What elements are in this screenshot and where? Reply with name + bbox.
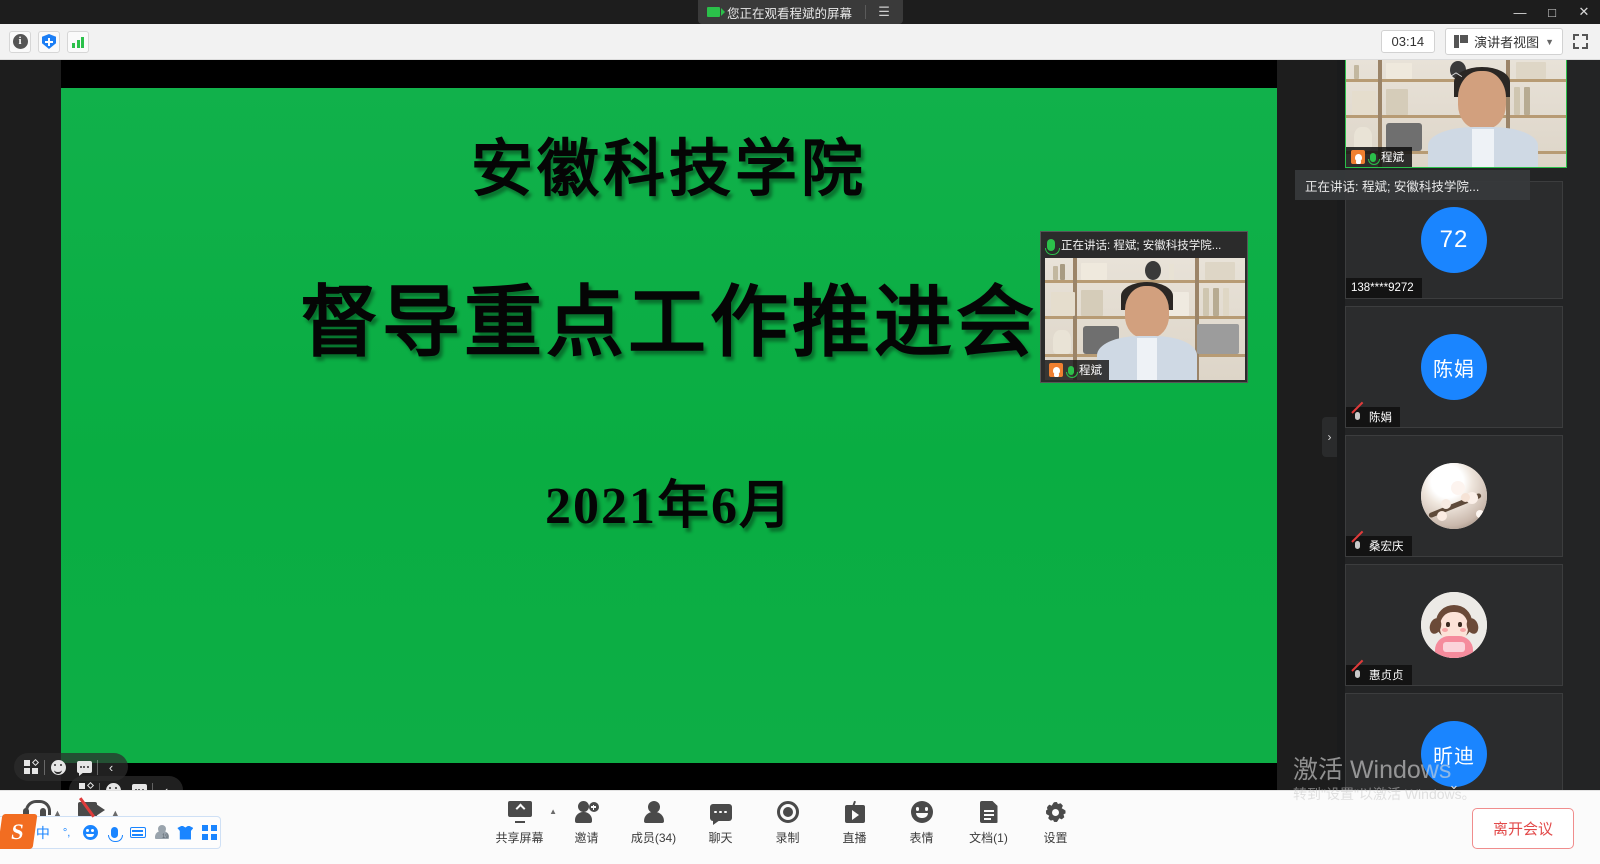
voice-input-icon[interactable] [103,820,125,845]
share-screen-button[interactable]: 共享屏幕 ▲ [486,799,553,846]
participant-tile-photo[interactable]: 惠贞贞 [1345,564,1563,686]
live-icon [845,801,865,823]
top-toolbar: i 03:14 演讲者视图 ▼ [0,24,1600,60]
soft-keyboard-icon[interactable] [127,820,149,845]
emoji-label: 表情 [909,829,933,846]
emoji-icon[interactable] [45,754,71,780]
members-button[interactable]: 成员(34) [620,799,687,846]
mic-active-icon [1047,239,1055,251]
meeting-actions: 共享屏幕 ▲ 邀请 成员(34) 聊天 录制 直播 [486,799,1089,846]
chat-icon [710,804,732,821]
floating-speaker-video[interactable]: 正在讲话: 程斌; 安徽科技学院... [1040,231,1248,383]
close-button[interactable]: ✕ [1568,0,1600,24]
host-badge-icon [1351,150,1365,164]
banner-divider [865,5,866,19]
mic-muted-icon [1351,540,1364,553]
participant-name-label: 程斌 [1346,147,1412,167]
pip-speaking-header: 正在讲话: 程斌; 安徽科技学院... [1041,232,1247,258]
sidebar-collapse-handle[interactable]: › [1322,417,1337,457]
participant-tile-photo[interactable]: 桑宏庆 [1345,435,1563,557]
settings-gear-icon [1045,801,1067,823]
mic-muted-icon [1351,669,1364,682]
info-icon[interactable]: i [9,31,31,53]
window-controls: — □ ✕ [1504,0,1600,24]
maximize-button[interactable]: □ [1536,0,1568,24]
view-mode-label: 演讲者视图 [1474,32,1539,51]
leave-meeting-button[interactable]: 离开会议 [1472,808,1574,849]
meeting-timer: 03:14 [1381,30,1436,53]
hamburger-icon[interactable]: ☰ [873,0,895,24]
participant-name: 程斌 [1381,149,1404,165]
participant-tile-video[interactable]: ︿ 程斌 [1345,60,1567,168]
avatar: 陈娟 [1421,334,1487,400]
presentation-slide: 安徽科技学院 督导重点工作推进会 2021年6月 [61,88,1277,763]
toolbar-left-group: i [0,31,89,53]
shared-screen-stage: 安徽科技学院 督导重点工作推进会 2021年6月 ‹ ‹ [0,60,1337,790]
toolbox-icon[interactable] [198,820,220,845]
screen-share-banner[interactable]: 您正在观看程斌的屏幕 ☰ [698,0,903,24]
participant-name-label: 桑宏庆 [1346,536,1412,556]
bottom-toolbar: ▲ ▲ 共享屏幕 ▲ 邀请 成员(34) 聊天 [0,790,1600,864]
record-button[interactable]: 录制 [754,799,821,846]
slide-title-line1: 安徽科技学院 [61,118,1277,208]
participant-name-label: 惠贞贞 [1346,665,1412,685]
shield-plus-icon[interactable] [38,31,60,53]
chevron-down-icon: ▼ [1545,37,1554,47]
fullscreen-icon[interactable] [1573,34,1588,49]
participant-name-label: 陈娟 [1346,407,1400,427]
pip-video-feed: 程斌 [1045,258,1245,380]
participant-name-label: 138****9272 [1346,278,1422,298]
shared-content-frame[interactable]: 安徽科技学院 督导重点工作推进会 2021年6月 [61,60,1277,790]
invite-label: 邀请 [574,829,598,846]
document-icon [980,801,998,823]
avatar: 72 [1421,207,1487,273]
participant-tile-initial[interactable]: 陈娟 陈娟 [1345,306,1563,428]
record-icon [777,801,799,823]
live-label: 直播 [842,829,866,846]
apps-grid-icon[interactable] [18,754,44,780]
mic-active-icon [1068,366,1074,375]
avatar [1421,592,1487,658]
speaker-view-icon [1454,35,1468,48]
participant-name: 桑宏庆 [1369,538,1404,554]
chat-button[interactable]: 聊天 [687,799,754,846]
participant-name: 惠贞贞 [1369,667,1404,683]
avatar [1421,463,1487,529]
view-mode-dropdown[interactable]: 演讲者视图 ▼ [1445,28,1563,55]
emoji-icon[interactable] [80,820,102,845]
title-bar: 您正在观看程斌的屏幕 ☰ — □ ✕ [0,0,1600,24]
settings-button[interactable]: 设置 [1022,799,1089,846]
scroll-down-arrow[interactable]: ⌄ [1434,776,1474,790]
skin-icon[interactable] [175,820,197,845]
pip-name-label: 程斌 [1045,360,1109,380]
pip-participant-name: 程斌 [1079,362,1102,378]
pip-speaking-text: 正在讲话: 程斌; 安徽科技学院... [1061,237,1221,253]
participant-tile-initial[interactable]: 昕迪 ⌄ [1345,693,1563,790]
document-label: 文档(1) [969,829,1008,846]
meeting-app-window: 您正在观看程斌的屏幕 ☰ — □ ✕ i 03:14 演讲者视图 ▼ [0,0,1600,864]
scroll-up-arrow[interactable]: ︿ [1436,61,1476,79]
emoji-icon [911,801,933,823]
members-label: 成员(34) [631,829,676,846]
document-button[interactable]: 文档(1) [955,799,1022,846]
host-badge-icon [1049,363,1063,377]
user-icon[interactable]: 19 [151,820,173,845]
mic-active-icon [1370,153,1376,162]
mic-muted-icon [1351,411,1364,424]
chat-label: 聊天 [708,829,732,846]
screen-share-banner-text: 您正在观看程斌的屏幕 [727,3,852,22]
ime-punctuation-mode[interactable]: °, [56,820,78,845]
participant-name: 陈娟 [1369,409,1392,425]
minimize-button[interactable]: — [1504,0,1536,24]
speaking-tooltip-text: 正在讲话: 程斌; 安徽科技学院... [1305,176,1479,195]
share-screen-label: 共享屏幕 [495,829,543,846]
ime-logo-icon[interactable]: S [0,814,37,849]
record-label: 录制 [775,829,799,846]
network-signal-icon[interactable] [67,31,89,53]
toolbar-right-group: 03:14 演讲者视图 ▼ [1381,28,1600,55]
invite-icon [575,801,599,823]
speaking-tooltip: 正在讲话: 程斌; 安徽科技学院... [1295,170,1530,200]
live-button[interactable]: 直播 [821,799,888,846]
slide-date: 2021年6月 [61,463,1277,538]
settings-label: 设置 [1043,829,1067,846]
members-icon [643,801,665,823]
emoji-button[interactable]: 表情 [888,799,955,846]
screen-share-icon [707,7,720,17]
invite-button[interactable]: 邀请 [553,799,620,846]
share-screen-icon [508,801,532,823]
participant-name: 138****9272 [1351,282,1414,294]
